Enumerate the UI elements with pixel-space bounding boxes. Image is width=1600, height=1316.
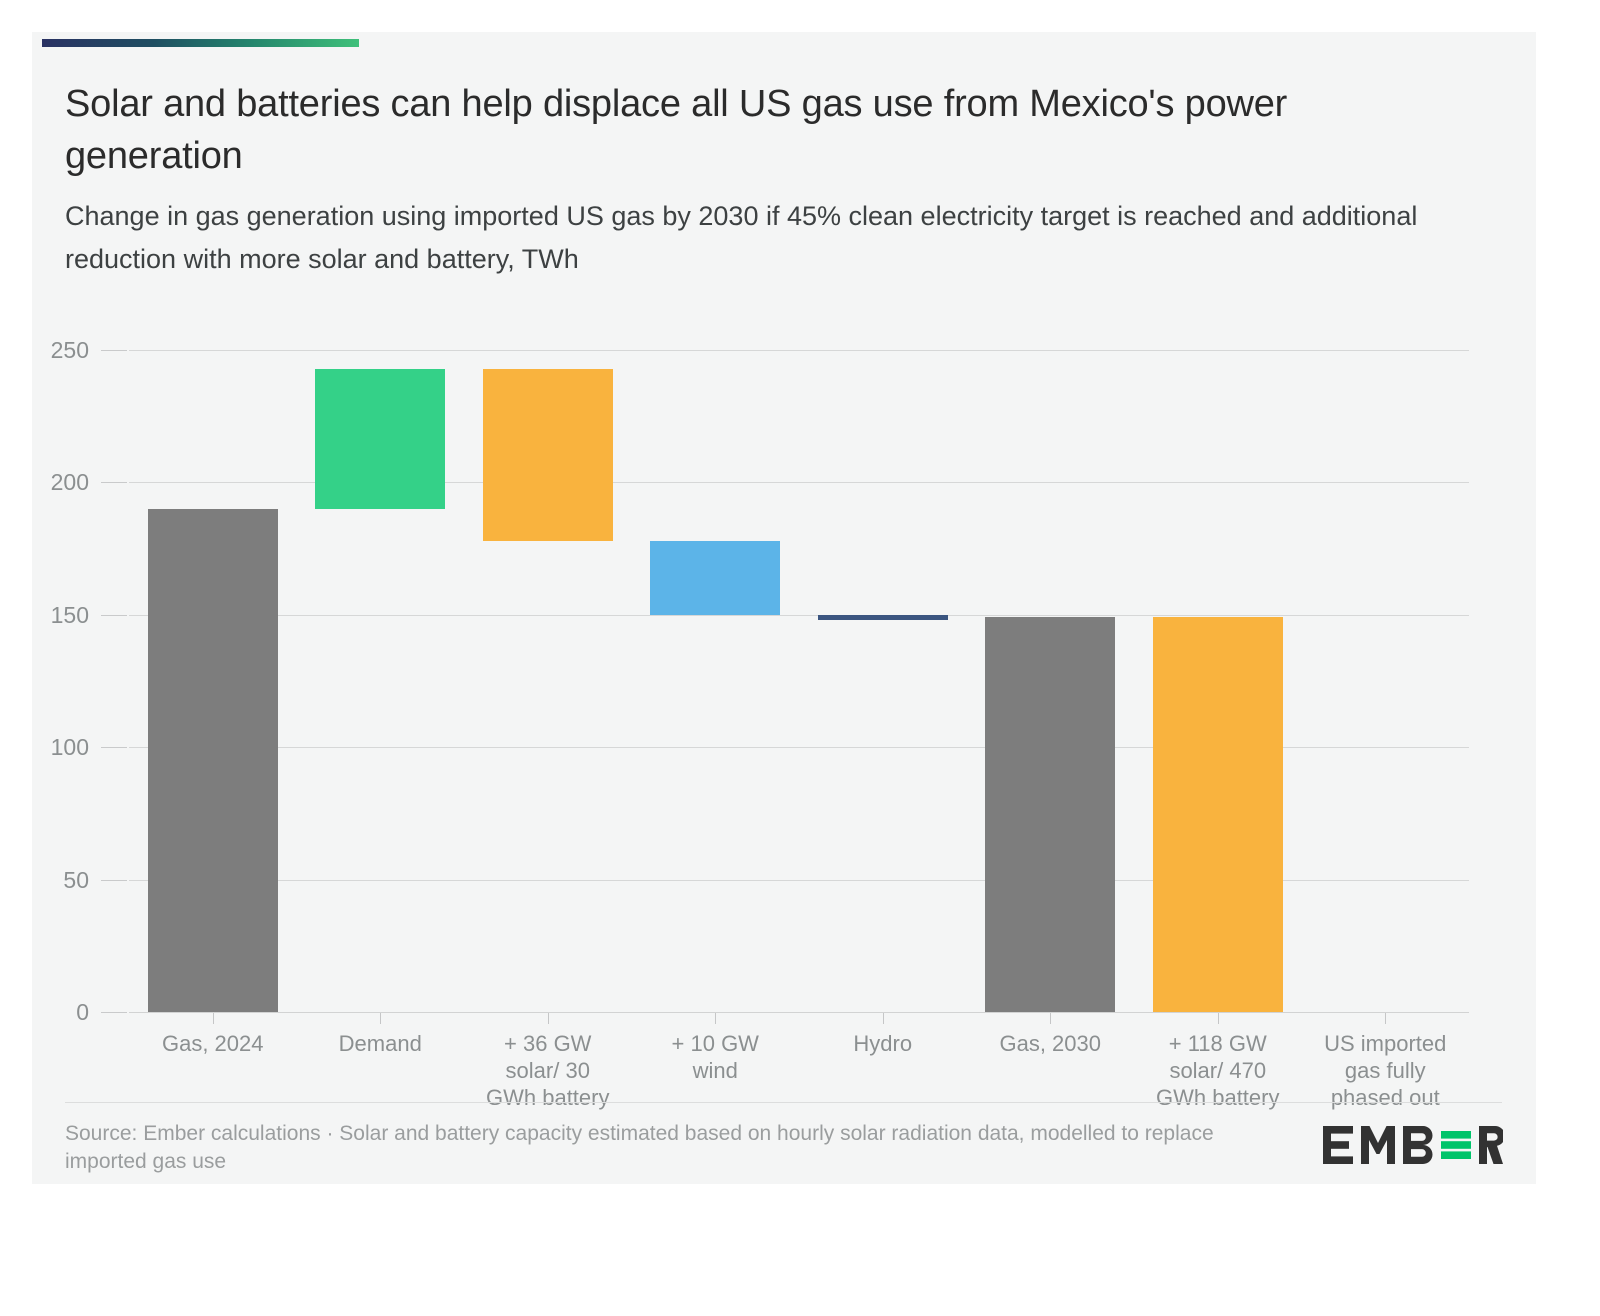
page-title: Solar and batteries can help displace al…: [65, 78, 1415, 182]
footer-divider: [65, 1102, 1502, 1103]
ember-logo: [1323, 1125, 1503, 1165]
x-tick-mark: [1050, 1013, 1051, 1024]
waterfall-bar[interactable]: [148, 509, 278, 1012]
x-axis-label: US imported gas fully phased out: [1305, 1030, 1467, 1111]
waterfall-bar[interactable]: [985, 617, 1115, 1012]
chart-card: Solar and batteries can help displace al…: [32, 32, 1536, 1184]
y-axis-tick-label: 250: [0, 337, 89, 364]
y-tick-mark: [101, 747, 127, 748]
y-tick-mark: [101, 350, 127, 351]
chart-subtitle: Change in gas generation using imported …: [65, 195, 1455, 281]
waterfall-bar[interactable]: [818, 615, 948, 620]
x-axis-label: Hydro: [802, 1030, 964, 1057]
y-tick-mark: [101, 880, 127, 881]
y-tick-mark: [101, 482, 127, 483]
x-tick-mark: [1218, 1013, 1219, 1024]
x-axis-label: Gas, 2030: [970, 1030, 1132, 1057]
waterfall-bar[interactable]: [483, 369, 613, 541]
waterfall-bar[interactable]: [1153, 617, 1283, 1012]
y-axis-tick-label: 150: [0, 602, 89, 629]
x-axis-label: + 36 GW solar/ 30 GWh battery: [467, 1030, 629, 1111]
y-gridline: [129, 1012, 1469, 1013]
source-note: Source: Ember calculations · Solar and b…: [65, 1120, 1245, 1176]
y-axis-tick-label: 100: [0, 734, 89, 761]
y-axis-tick-label: 50: [0, 867, 89, 894]
waterfall-bar[interactable]: [315, 369, 445, 509]
x-tick-mark: [1385, 1013, 1386, 1024]
y-gridline: [129, 615, 1469, 616]
x-axis-label: + 118 GW solar/ 470 GWh battery: [1137, 1030, 1299, 1111]
x-tick-mark: [883, 1013, 884, 1024]
waterfall-chart: 050100150200250 Gas, 2024Demand+ 36 GW s…: [32, 317, 1536, 1017]
y-axis-tick-label: 0: [0, 999, 89, 1026]
y-axis-tick-label: 200: [0, 469, 89, 496]
waterfall-bar[interactable]: [650, 541, 780, 615]
y-tick-mark: [101, 1012, 127, 1013]
brand-accent-bar: [42, 39, 359, 47]
y-gridline: [129, 350, 1469, 351]
x-axis-label: + 10 GW wind: [635, 1030, 797, 1084]
y-tick-mark: [101, 615, 127, 616]
x-tick-mark: [380, 1013, 381, 1024]
x-axis-label: Demand: [300, 1030, 462, 1057]
x-axis-label: Gas, 2024: [132, 1030, 294, 1057]
x-tick-mark: [548, 1013, 549, 1024]
x-tick-mark: [213, 1013, 214, 1024]
plot-area: 050100150200250: [129, 350, 1469, 1012]
x-tick-mark: [715, 1013, 716, 1024]
ember-logo-mark: [1323, 1126, 1503, 1164]
